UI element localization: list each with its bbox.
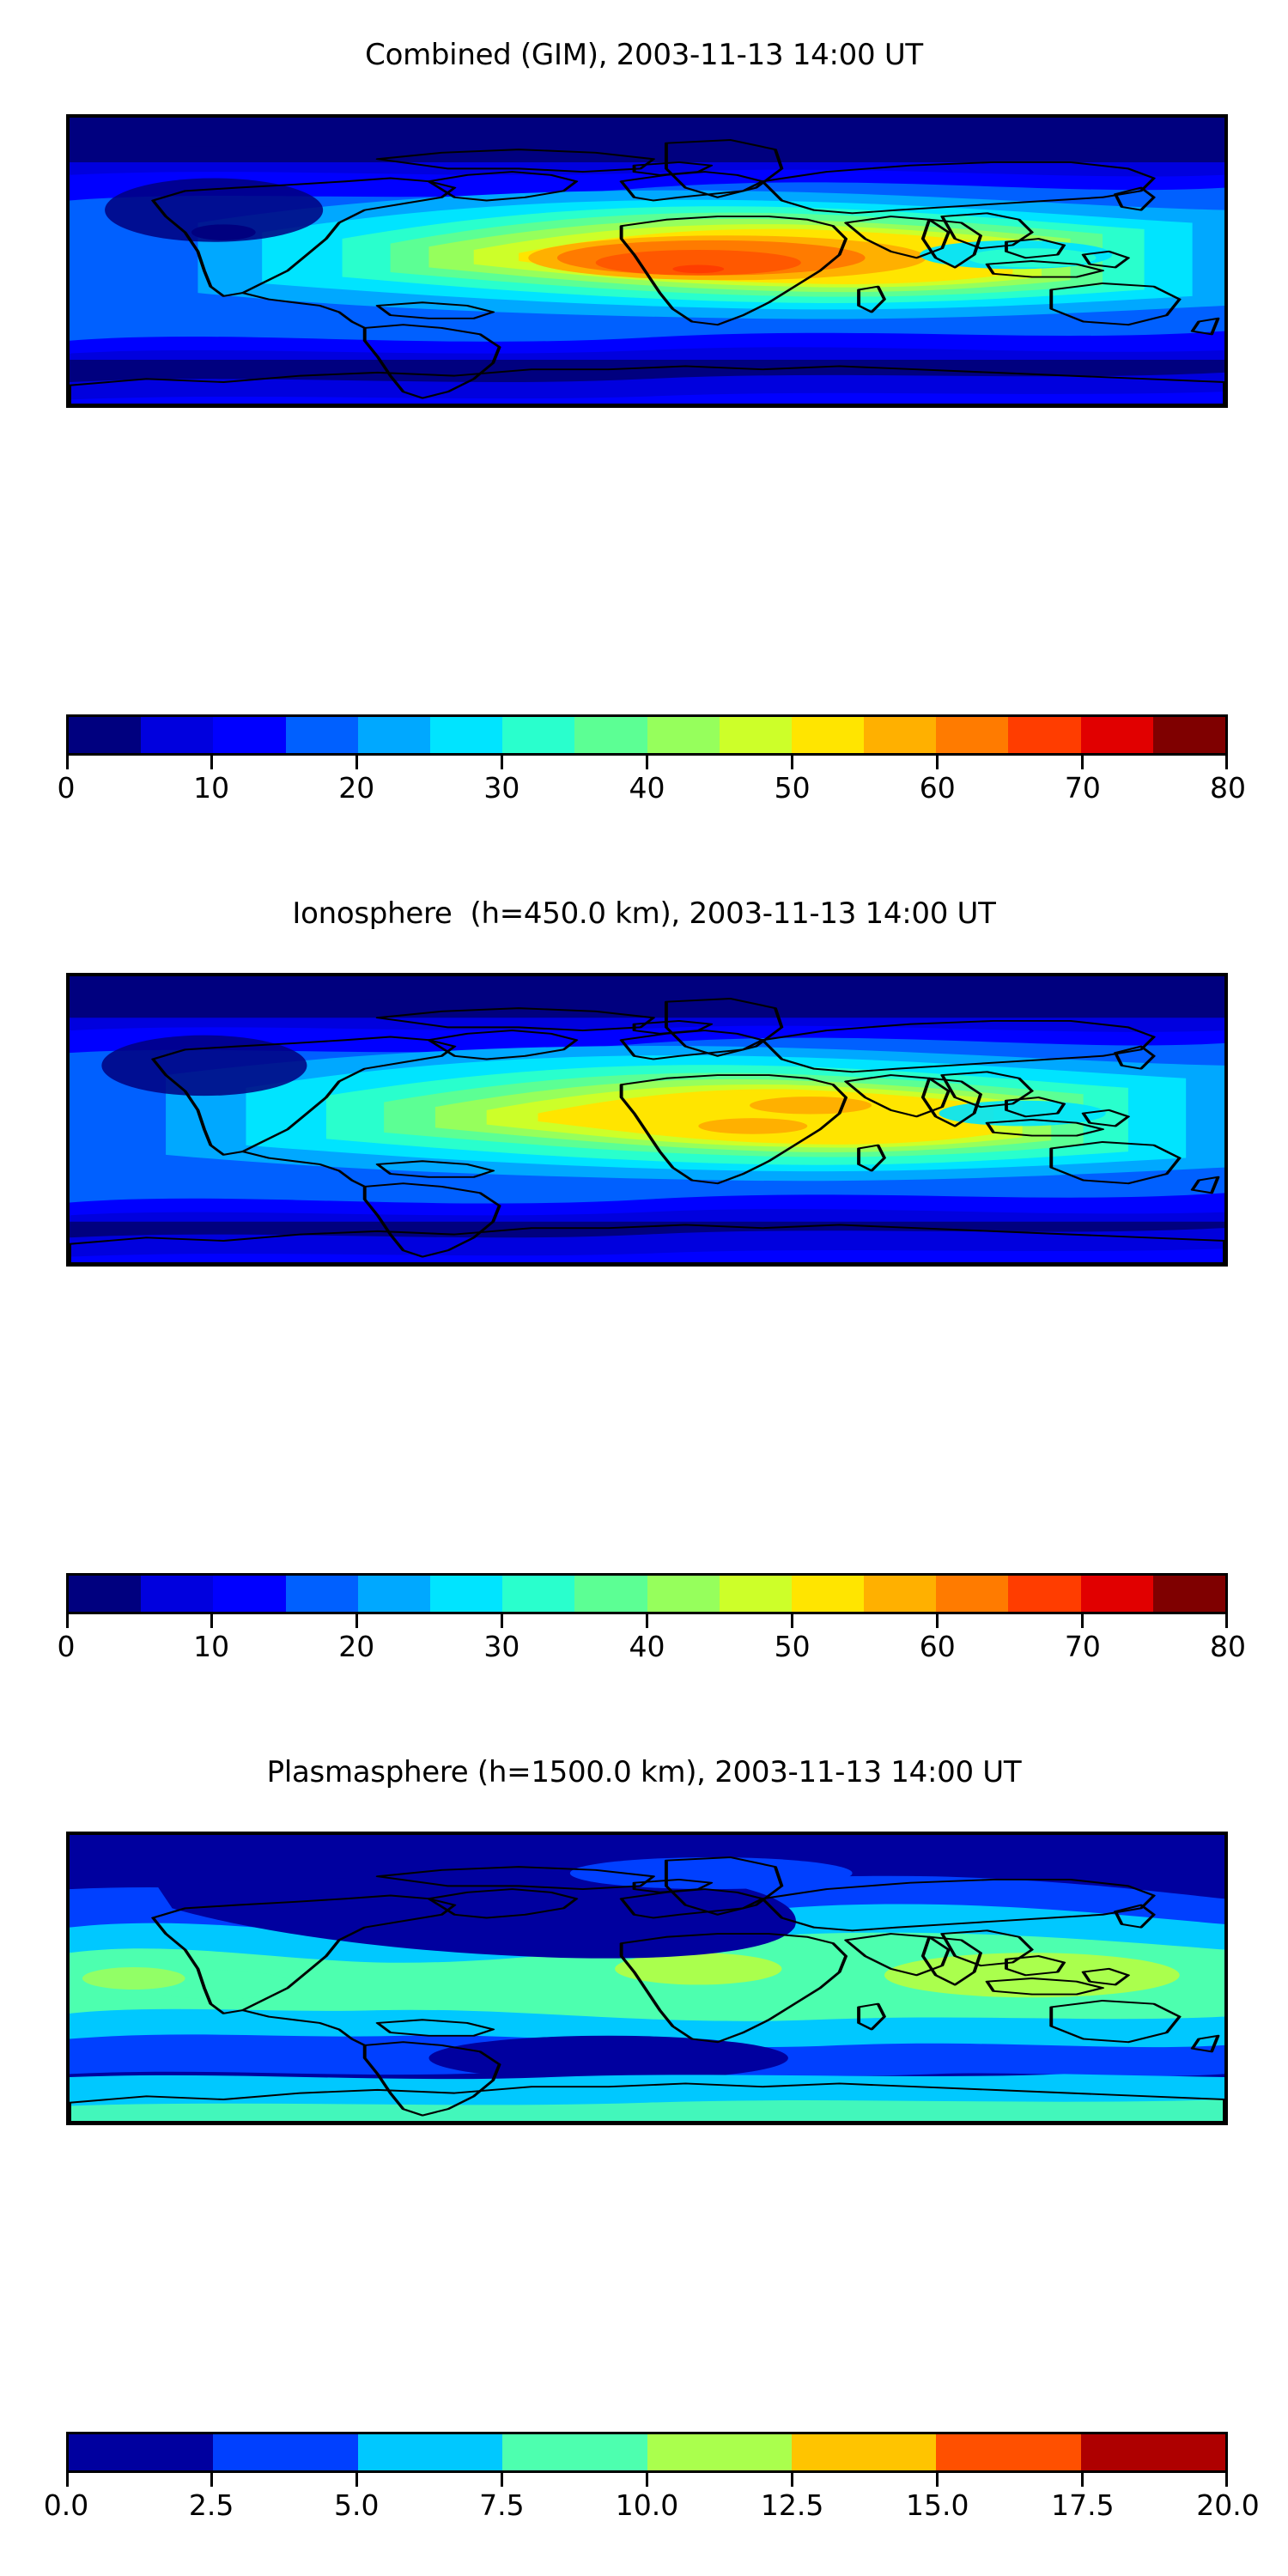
colorbar-ticklabel-7: 70 xyxy=(1065,771,1101,805)
colorbar-band-6 xyxy=(936,2434,1080,2470)
colorbar-band-5 xyxy=(430,717,502,753)
colorbar-gradient-combined[interactable] xyxy=(66,714,1228,756)
colorbar-ticklabel-4: 40 xyxy=(629,1630,665,1663)
panel-title-ionosphere: Ionosphere (h=450.0 km), 2003-11-13 14:0… xyxy=(0,896,1288,931)
colorbar-band-5 xyxy=(430,1576,502,1612)
colorbar-tick-8 xyxy=(1225,2473,1228,2487)
colorbar-band-2 xyxy=(213,1576,285,1612)
colorbar-band-13 xyxy=(1008,1576,1080,1612)
colorbar-tick-1 xyxy=(210,2473,213,2487)
colorbar-tick-5 xyxy=(791,756,793,769)
colorbar-band-3 xyxy=(502,2434,647,2470)
map-plasmasphere[interactable] xyxy=(66,1832,1228,2125)
colorbar-band-4 xyxy=(647,2434,792,2470)
colorbar-tick-3 xyxy=(501,2473,503,2487)
colorbar-band-11 xyxy=(864,717,936,753)
colorbar-band-7 xyxy=(1081,2434,1225,2470)
colorbar-band-0 xyxy=(69,717,141,753)
colorbar-band-5 xyxy=(792,2434,936,2470)
tec-figure: Combined (GIM), 2003-11-13 14:00 UT xyxy=(0,0,1288,2576)
colorbar-tick-6 xyxy=(936,2473,939,2487)
colorbar-tick-5 xyxy=(791,2473,793,2487)
colorbar-tick-8 xyxy=(1225,756,1228,769)
colorbar-labels-ionosphere: 01020304050607080 xyxy=(66,1630,1228,1668)
colorbar-band-0 xyxy=(69,2434,213,2470)
colorbar-band-1 xyxy=(213,2434,357,2470)
colorbar-band-0 xyxy=(69,1576,141,1612)
colorbar-tick-1 xyxy=(210,756,213,769)
colorbar-ticklabel-8: 80 xyxy=(1210,1630,1246,1663)
colorbar-ticklabel-0: 0.0 xyxy=(44,2488,88,2522)
colorbar-band-3 xyxy=(286,717,358,753)
colorbar-labels-combined: 01020304050607080 xyxy=(66,771,1228,809)
colorbar-tick-7 xyxy=(1081,2473,1084,2487)
colorbar-band-13 xyxy=(1008,717,1080,753)
colorbar-band-9 xyxy=(720,717,792,753)
colorbar-ticklabel-0: 0 xyxy=(58,771,76,805)
colorbar-band-12 xyxy=(936,1576,1008,1612)
colorbar-ticklabel-0: 0 xyxy=(58,1630,76,1663)
colorbar-gradient-ionosphere[interactable] xyxy=(66,1573,1228,1614)
colorbar-band-10 xyxy=(792,1576,864,1612)
colorbar-tick-6 xyxy=(936,1614,939,1628)
colorbar-band-8 xyxy=(647,717,720,753)
colorbar-band-14 xyxy=(1081,1576,1153,1612)
colorbar-tick-3 xyxy=(501,1614,503,1628)
colorbar-labels-plasmasphere: 0.02.55.07.510.012.515.017.520.0 xyxy=(66,2488,1228,2526)
map-svg-combined xyxy=(70,118,1224,404)
colorbar-ticklabel-4: 40 xyxy=(629,771,665,805)
colorbar-ticklabel-5: 50 xyxy=(775,771,811,805)
colorbar-tick-8 xyxy=(1225,1614,1228,1628)
colorbar-band-8 xyxy=(647,1576,720,1612)
colorbar-tick-4 xyxy=(646,2473,648,2487)
colorbar-tick-1 xyxy=(210,1614,213,1628)
colorbar-tick-5 xyxy=(791,1614,793,1628)
colorbar-tick-2 xyxy=(355,1614,358,1628)
colorbar-ticklabel-3: 30 xyxy=(483,771,519,805)
colorbar-gradient-plasmasphere[interactable] xyxy=(66,2432,1228,2473)
colorbar-ticklabel-2: 20 xyxy=(338,1630,374,1663)
colorbar-band-4 xyxy=(358,1576,430,1612)
colorbar-band-14 xyxy=(1081,717,1153,753)
colorbar-ticklabel-6: 15.0 xyxy=(906,2488,969,2522)
colorbar-plasmasphere: 0.02.55.07.510.012.515.017.520.0 xyxy=(66,2432,1228,2526)
colorbar-band-2 xyxy=(213,717,285,753)
colorbar-band-6 xyxy=(502,1576,574,1612)
colorbar-ticklabel-6: 60 xyxy=(920,1630,956,1663)
colorbar-band-12 xyxy=(936,717,1008,753)
colorbar-ticklabel-6: 60 xyxy=(920,771,956,805)
colorbar-tick-3 xyxy=(501,756,503,769)
colorbar-ticklabel-7: 70 xyxy=(1065,1630,1101,1663)
colorbar-band-2 xyxy=(358,2434,502,2470)
colorbar-ticklabel-8: 80 xyxy=(1210,771,1246,805)
colorbar-ticklabel-2: 5.0 xyxy=(334,2488,379,2522)
map-svg-ionosphere xyxy=(70,976,1224,1263)
map-ionosphere[interactable] xyxy=(66,973,1228,1267)
map-svg-plasmasphere xyxy=(70,1835,1224,2122)
colorbar-band-7 xyxy=(574,717,647,753)
colorbar-band-7 xyxy=(574,1576,647,1612)
panel-title-plasmasphere: Plasmasphere (h=1500.0 km), 2003-11-13 1… xyxy=(0,1755,1288,1789)
colorbar-ticks-plasmasphere xyxy=(66,2473,1228,2488)
colorbar-band-1 xyxy=(141,717,213,753)
colorbar-combined: 01020304050607080 xyxy=(66,714,1228,809)
colorbar-ticklabel-2: 20 xyxy=(338,771,374,805)
colorbar-ticklabel-1: 10 xyxy=(193,771,229,805)
colorbar-band-9 xyxy=(720,1576,792,1612)
colorbar-ticklabel-8: 20.0 xyxy=(1196,2488,1259,2522)
colorbar-ticklabel-4: 10.0 xyxy=(616,2488,678,2522)
colorbar-band-3 xyxy=(286,1576,358,1612)
colorbar-ticklabel-5: 12.5 xyxy=(761,2488,823,2522)
colorbar-tick-7 xyxy=(1081,1614,1084,1628)
colorbar-ticks-ionosphere xyxy=(66,1614,1228,1630)
colorbar-ticklabel-1: 10 xyxy=(193,1630,229,1663)
colorbar-tick-4 xyxy=(646,756,648,769)
colorbar-band-4 xyxy=(358,717,430,753)
colorbar-ticks-combined xyxy=(66,756,1228,771)
colorbar-band-15 xyxy=(1153,1576,1225,1612)
colorbar-tick-0 xyxy=(66,2473,69,2487)
colorbar-tick-6 xyxy=(936,756,939,769)
colorbar-ticklabel-5: 50 xyxy=(775,1630,811,1663)
panel-title-combined: Combined (GIM), 2003-11-13 14:00 UT xyxy=(0,38,1288,72)
colorbar-ticklabel-3: 30 xyxy=(483,1630,519,1663)
colorbar-band-11 xyxy=(864,1576,936,1612)
colorbar-band-10 xyxy=(792,717,864,753)
colorbar-tick-0 xyxy=(66,756,69,769)
colorbar-tick-7 xyxy=(1081,756,1084,769)
colorbar-band-6 xyxy=(502,717,574,753)
colorbar-ionosphere: 01020304050607080 xyxy=(66,1573,1228,1668)
colorbar-ticklabel-1: 2.5 xyxy=(189,2488,234,2522)
colorbar-tick-0 xyxy=(66,1614,69,1628)
colorbar-ticklabel-7: 17.5 xyxy=(1051,2488,1114,2522)
colorbar-ticklabel-3: 7.5 xyxy=(479,2488,524,2522)
map-combined-gim[interactable] xyxy=(66,114,1228,408)
colorbar-tick-2 xyxy=(355,756,358,769)
colorbar-tick-2 xyxy=(355,2473,358,2487)
colorbar-band-15 xyxy=(1153,717,1225,753)
colorbar-tick-4 xyxy=(646,1614,648,1628)
colorbar-band-1 xyxy=(141,1576,213,1612)
